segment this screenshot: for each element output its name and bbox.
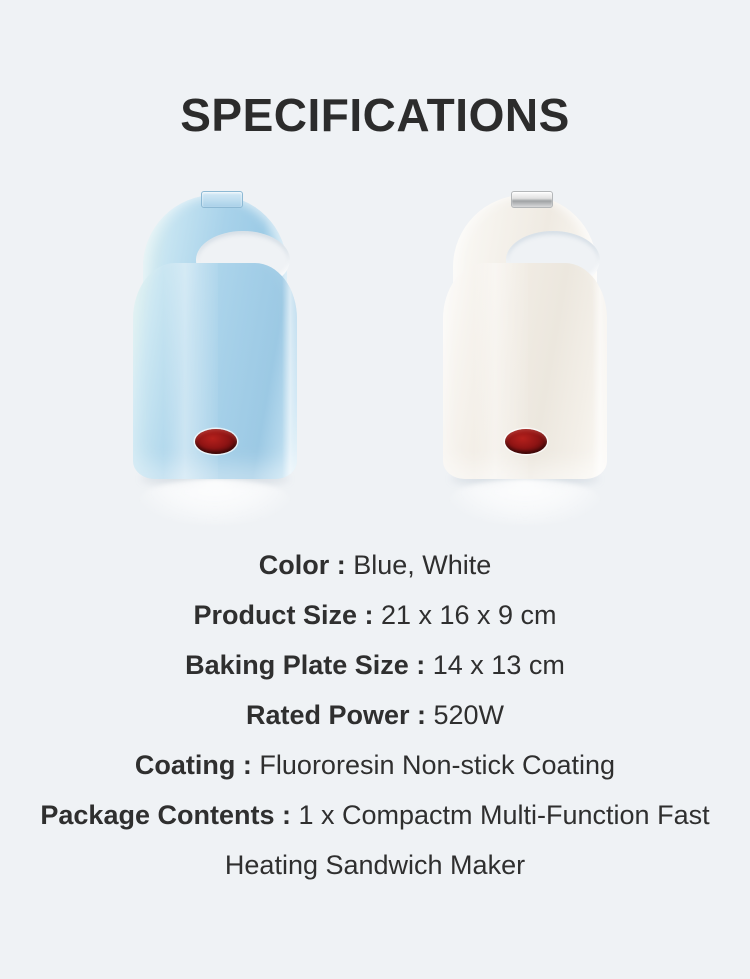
spec-separator: : [410, 700, 434, 730]
power-indicator-light [505, 429, 547, 454]
specifications-page: SPECIFICATIONS [0, 0, 750, 979]
product-reflection [137, 479, 293, 525]
spec-row-package-contents: Package Contents : 1 x Compactm Multi-Fu… [0, 790, 750, 890]
spec-label: Color [259, 550, 330, 580]
lid-latch [201, 191, 243, 208]
lid-latch [511, 191, 553, 208]
spec-separator: : [409, 650, 433, 680]
spec-row-baking-plate-size: Baking Plate Size : 14 x 13 cm [0, 640, 750, 690]
spec-row-coating: Coating : Fluororesin Non-stick Coating [0, 740, 750, 790]
specification-list: Color : Blue, White Product Size : 21 x … [0, 540, 750, 890]
spec-row-rated-power: Rated Power : 520W [0, 690, 750, 740]
product-gallery [0, 185, 750, 515]
product-image-blue [115, 185, 315, 515]
spec-row-product-size: Product Size : 21 x 16 x 9 cm [0, 590, 750, 640]
spec-value: 21 x 16 x 9 cm [381, 600, 557, 630]
spec-separator: : [329, 550, 353, 580]
spec-separator: : [274, 800, 298, 830]
spec-separator: : [357, 600, 381, 630]
body-edge-highlight [592, 263, 607, 479]
spec-value: 14 x 13 cm [433, 650, 565, 680]
spec-value: Fluororesin Non-stick Coating [259, 750, 615, 780]
power-indicator-light [195, 429, 237, 454]
page-title: SPECIFICATIONS [0, 90, 750, 141]
spec-label: Rated Power [246, 700, 410, 730]
product-image-white [425, 185, 625, 515]
spec-value: Blue, White [353, 550, 491, 580]
spec-label: Product Size [193, 600, 357, 630]
spec-label: Coating [135, 750, 236, 780]
spec-label: Package Contents [40, 800, 274, 830]
body-edge-highlight [282, 263, 297, 479]
spec-value: 520W [434, 700, 505, 730]
spec-value: 1 x Compactm Multi-Function Fast Heating… [225, 800, 710, 880]
spec-label: Baking Plate Size [185, 650, 409, 680]
product-reflection [447, 479, 603, 525]
spec-separator: : [235, 750, 259, 780]
spec-row-color: Color : Blue, White [0, 540, 750, 590]
